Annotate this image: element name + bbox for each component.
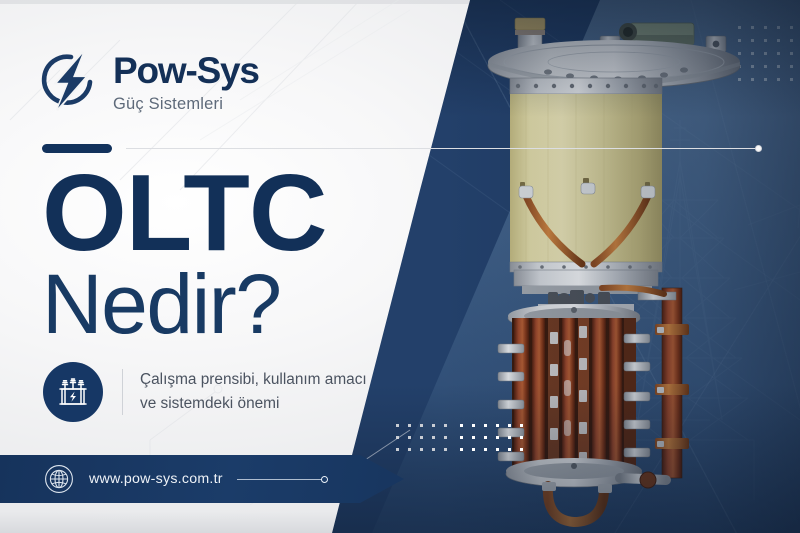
globe-icon: [44, 464, 74, 494]
description-row: Çalışma prensibi, kullanım amacı ve sist…: [43, 362, 367, 422]
brand-logo[interactable]: Pow-Sys Güç Sistemleri: [40, 50, 259, 113]
description-line-1: Çalışma prensibi, kullanım amacı: [140, 368, 367, 392]
page-title: OLTC: [42, 163, 327, 264]
website-trailing-line: [237, 479, 323, 480]
page-subtitle-question: Nedir?: [42, 262, 280, 346]
brand-tagline: Güç Sistemleri: [113, 96, 259, 113]
divider-line: [126, 148, 758, 149]
transformer-icon: [56, 375, 90, 409]
transformer-badge: [43, 362, 103, 422]
brand-text: Pow-Sys Güç Sistemleri: [113, 50, 259, 113]
brand-name: Pow-Sys: [113, 52, 259, 89]
website-banner[interactable]: www.pow-sys.com.tr: [0, 455, 420, 503]
description-line-2: ve sistemdeki önemi: [140, 392, 367, 416]
poster-canvas: Pow-Sys Güç Sistemleri OLTC Nedir?: [0, 0, 800, 533]
lightning-circle-icon: [40, 50, 100, 112]
description-text: Çalışma prensibi, kullanım amacı ve sist…: [140, 368, 367, 416]
description-divider: [122, 369, 123, 415]
website-end-dot: [321, 476, 328, 483]
divider-end-dot: [755, 145, 762, 152]
website-url[interactable]: www.pow-sys.com.tr: [89, 471, 223, 487]
